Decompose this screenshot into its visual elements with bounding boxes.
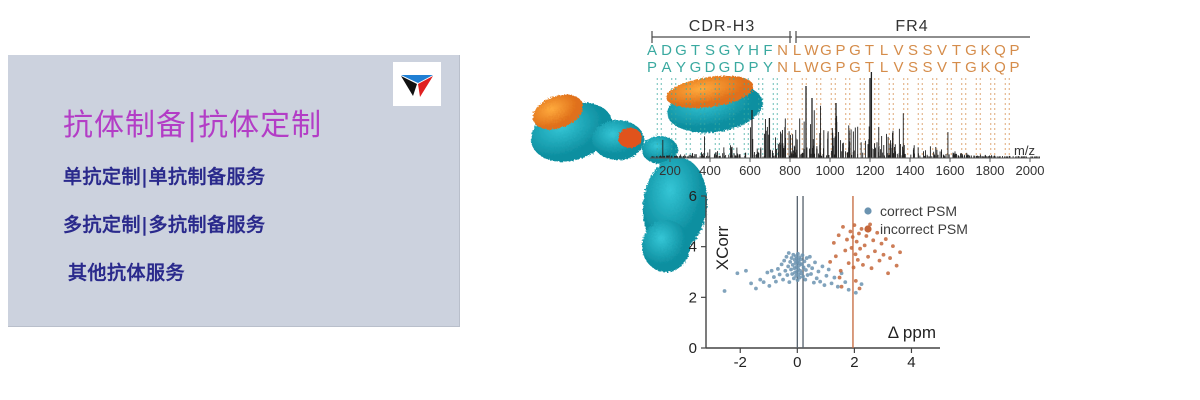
top-residue: G bbox=[675, 42, 687, 59]
region-label-fr4: FR4 bbox=[895, 18, 928, 35]
top-residue: V bbox=[937, 42, 947, 59]
bottom-residue: V bbox=[893, 59, 903, 76]
bottom-residue: G bbox=[849, 59, 861, 76]
top-residue: G bbox=[820, 42, 832, 59]
scatter-point bbox=[882, 253, 886, 257]
bottom-residue: K bbox=[980, 59, 990, 76]
scatter-point bbox=[754, 287, 758, 291]
scatter-point bbox=[823, 283, 827, 287]
scatter-point bbox=[857, 232, 861, 236]
scatter-point bbox=[852, 266, 856, 270]
scatter-ytick-label: 4 bbox=[689, 239, 697, 256]
bottom-residue: N bbox=[777, 59, 788, 76]
sequence-row-top: ADGTSGYHFNLWGPGTLVSSVTGKQP bbox=[647, 42, 1020, 59]
top-residue: P bbox=[1009, 42, 1019, 59]
scatter-points bbox=[723, 222, 902, 294]
scatter-point bbox=[840, 285, 844, 289]
scatter-point bbox=[783, 269, 787, 273]
top-residue: F bbox=[763, 42, 772, 59]
scatter-point bbox=[843, 280, 847, 284]
scatter-point bbox=[818, 280, 822, 284]
top-residue: W bbox=[804, 42, 819, 59]
spectrum-tick-label: 600 bbox=[739, 163, 761, 178]
bottom-residue: Y bbox=[763, 59, 773, 76]
scatter-point bbox=[847, 288, 851, 292]
scatter-point bbox=[878, 259, 882, 263]
scatter-threshold-lines bbox=[797, 196, 853, 348]
scatter-point bbox=[858, 287, 862, 291]
scientific-figure: CDR-H3 FR4 ADGTSGYHFNLWGPGTLVSSVTGKQP PA… bbox=[500, 0, 1200, 400]
scatter-point bbox=[803, 259, 807, 263]
scatter-point bbox=[875, 231, 879, 235]
scatter-point bbox=[884, 237, 888, 241]
scatter-ytick-label: 2 bbox=[689, 289, 697, 306]
scatter-point bbox=[891, 244, 895, 248]
top-residue: Q bbox=[994, 42, 1006, 59]
bottom-residue: T bbox=[952, 59, 961, 76]
scatter-point bbox=[810, 266, 814, 270]
scatter-point bbox=[817, 270, 821, 274]
scatter-point bbox=[799, 257, 803, 261]
scatter-point bbox=[806, 273, 810, 277]
scatter-point bbox=[815, 276, 819, 280]
scatter-point bbox=[812, 281, 816, 285]
top-residue: G bbox=[965, 42, 977, 59]
scatter-point bbox=[821, 265, 825, 269]
scatter-point bbox=[873, 249, 877, 253]
scatter-point bbox=[772, 275, 776, 279]
bottom-residue: W bbox=[804, 59, 819, 76]
scatter-point bbox=[848, 230, 852, 234]
scatter-point bbox=[851, 235, 855, 239]
scatter-xtick-label: 0 bbox=[793, 354, 801, 371]
top-residue: T bbox=[865, 42, 874, 59]
bottom-residue: G bbox=[719, 59, 731, 76]
region-label-cdrh3: CDR-H3 bbox=[689, 18, 755, 35]
top-residue: S bbox=[705, 42, 715, 59]
scatter-point bbox=[852, 223, 856, 227]
spectrum-tick-label: 1000 bbox=[816, 163, 845, 178]
scatter-point bbox=[801, 253, 805, 257]
page-title: 抗体制备|抗体定制 bbox=[63, 100, 322, 144]
scatter-point bbox=[782, 259, 786, 263]
legend-label-incorrect: incorrect PSM bbox=[880, 221, 968, 237]
scatter-point bbox=[781, 278, 785, 282]
scatter-point bbox=[871, 238, 875, 242]
bottom-residue: T bbox=[865, 59, 874, 76]
scatter-point bbox=[767, 284, 771, 288]
scatter-point bbox=[758, 278, 762, 282]
company-logo bbox=[393, 62, 441, 106]
scatter-point bbox=[898, 250, 902, 254]
scatter-point bbox=[886, 271, 890, 275]
spectrum-tick-label: 1800 bbox=[976, 163, 1005, 178]
bottom-residue: L bbox=[793, 59, 801, 76]
bottom-residue: D bbox=[734, 59, 745, 76]
scatter-point bbox=[828, 260, 832, 264]
scatter-xtick-label: 4 bbox=[907, 354, 915, 371]
scatter-point bbox=[744, 269, 748, 273]
scatter-point bbox=[843, 249, 847, 253]
top-residue: A bbox=[647, 42, 657, 59]
scatter-point bbox=[801, 275, 805, 279]
scatter-point bbox=[774, 280, 778, 284]
scatter-point bbox=[765, 271, 769, 275]
bottom-residue: P bbox=[1009, 59, 1019, 76]
scatter-point bbox=[854, 279, 858, 283]
scatter-point bbox=[830, 282, 834, 286]
scatter-point bbox=[861, 263, 865, 267]
scatter-point bbox=[854, 291, 858, 295]
bottom-residue: Q bbox=[994, 59, 1006, 76]
scatter-point bbox=[749, 282, 753, 286]
bottom-residue: D bbox=[705, 59, 716, 76]
scatter-xtick-label: -2 bbox=[734, 354, 747, 371]
scatter-point bbox=[799, 271, 803, 275]
legend-dot-correct bbox=[864, 207, 871, 214]
scatter-point bbox=[855, 240, 859, 244]
bottom-residue: S bbox=[908, 59, 918, 76]
top-residue: Y bbox=[734, 42, 744, 59]
scatter-point bbox=[825, 274, 829, 278]
scatter-point bbox=[785, 273, 789, 277]
scatter-point bbox=[804, 268, 808, 272]
top-residue: T bbox=[952, 42, 961, 59]
legend-label-correct: correct PSM bbox=[880, 203, 957, 219]
top-residue: H bbox=[748, 42, 759, 59]
bottom-residue: P bbox=[748, 59, 758, 76]
scatter-point bbox=[762, 280, 766, 284]
scatter-point bbox=[841, 225, 845, 229]
top-residue: D bbox=[661, 42, 672, 59]
spectrum-tick-labels: 200400600800100012001400160018002000 bbox=[659, 158, 1044, 178]
promo-link-other-services[interactable]: 其他抗体服务 bbox=[68, 258, 185, 285]
scatter-point bbox=[787, 280, 791, 284]
scatter-xlabel: Δ ppm bbox=[888, 323, 936, 342]
bottom-residue: S bbox=[922, 59, 932, 76]
scatter-point bbox=[856, 258, 860, 262]
xcorr-scatter-plot: 0246 -2024 XCorr Δ ppm correct PSM incor… bbox=[689, 188, 968, 371]
scatter-point bbox=[845, 238, 849, 242]
scatter-point bbox=[770, 269, 774, 273]
bottom-residue: Y bbox=[676, 59, 686, 76]
scatter-point bbox=[870, 266, 874, 270]
scatter-point bbox=[834, 254, 838, 258]
top-residue: L bbox=[880, 42, 888, 59]
bottom-residue: G bbox=[820, 59, 832, 76]
scatter-ylabel: XCorr bbox=[713, 225, 732, 270]
scatter-ytick-label: 6 bbox=[689, 188, 697, 205]
bottom-residue: L bbox=[880, 59, 888, 76]
legend-dot-incorrect bbox=[864, 225, 871, 232]
figure-svg: CDR-H3 FR4 ADGTSGYHFNLWGPGTLVSSVTGKQP PA… bbox=[500, 0, 1200, 400]
scatter-point bbox=[836, 285, 840, 289]
promo-link-monoclonal[interactable]: 单抗定制|单抗制备服务 bbox=[63, 162, 265, 189]
scatter-point bbox=[778, 273, 782, 277]
sequence-row-bottom: PAYGDGDPYNLWGPGTLVSSVTGKQP bbox=[647, 59, 1020, 76]
scatter-point bbox=[735, 271, 739, 275]
spectrum-tick-label: 400 bbox=[699, 163, 721, 178]
scatter-point bbox=[776, 267, 780, 271]
promo-link-polyclonal[interactable]: 多抗定制|多抗制备服务 bbox=[63, 210, 265, 237]
scatter-point bbox=[847, 261, 851, 265]
spectrum-tick-label: 2000 bbox=[1016, 163, 1045, 178]
scatter-legend: correct PSM incorrect PSM bbox=[864, 203, 968, 237]
promo-panel: 抗体制备|抗体定制 单抗定制|单抗制备服务 多抗定制|多抗制备服务 其他抗体服务 bbox=[8, 55, 460, 327]
bottom-residue: G bbox=[965, 59, 977, 76]
logo-mark bbox=[393, 62, 441, 106]
top-residue: L bbox=[793, 42, 801, 59]
scatter-point bbox=[807, 264, 811, 268]
scatter-point bbox=[850, 246, 854, 250]
spectrum-tick-label: 200 bbox=[659, 163, 681, 178]
scatter-point bbox=[832, 241, 836, 245]
scatter-point bbox=[789, 268, 793, 272]
spectrum-tick-label: 1600 bbox=[936, 163, 965, 178]
scatter-point bbox=[863, 244, 867, 248]
scatter-point bbox=[798, 276, 802, 280]
scatter-point bbox=[788, 260, 792, 264]
scatter-point bbox=[833, 276, 837, 280]
scatter-point bbox=[786, 265, 790, 269]
scatter-point bbox=[827, 268, 831, 272]
top-residue: G bbox=[719, 42, 731, 59]
scatter-point bbox=[860, 227, 864, 231]
scatter-point bbox=[854, 252, 858, 256]
scatter-point bbox=[838, 276, 842, 280]
scatter-point bbox=[796, 252, 800, 256]
scatter-point bbox=[860, 282, 864, 286]
scatter-point bbox=[785, 255, 789, 259]
scatter-point bbox=[837, 233, 841, 237]
top-residue: S bbox=[908, 42, 918, 59]
scatter-point bbox=[780, 263, 784, 267]
top-residue: G bbox=[849, 42, 861, 59]
scatter-point bbox=[787, 251, 791, 255]
spectrum-tick-label: 800 bbox=[779, 163, 801, 178]
scatter-point bbox=[803, 278, 807, 282]
top-residue: N bbox=[777, 42, 788, 59]
scatter-point bbox=[880, 242, 884, 246]
scatter-xtick-label: 2 bbox=[850, 354, 858, 371]
top-residue: S bbox=[922, 42, 932, 59]
scatter-point bbox=[895, 264, 899, 268]
scatter-xtick-labels: -2024 bbox=[734, 348, 916, 371]
top-residue: K bbox=[980, 42, 990, 59]
spectrum-xlabel: m/z bbox=[1014, 143, 1035, 158]
scatter-point bbox=[888, 256, 892, 260]
spectrum-tick-label: 1400 bbox=[896, 163, 925, 178]
scatter-point bbox=[813, 260, 817, 264]
spectrum-tick-label: 1200 bbox=[856, 163, 885, 178]
scatter-ytick-label: 0 bbox=[689, 340, 697, 357]
scatter-point bbox=[723, 289, 727, 293]
top-residue: P bbox=[835, 42, 845, 59]
scatter-point bbox=[864, 234, 868, 238]
bottom-residue: P bbox=[835, 59, 845, 76]
top-residue: T bbox=[691, 42, 700, 59]
page-root: 抗体制备|抗体定制 单抗定制|单抗制备服务 多抗定制|多抗制备服务 其他抗体服务 bbox=[0, 0, 1200, 400]
bottom-residue: P bbox=[647, 59, 657, 76]
scatter-point bbox=[839, 269, 843, 273]
top-residue: V bbox=[893, 42, 903, 59]
scatter-point bbox=[809, 272, 813, 276]
bottom-residue: G bbox=[690, 59, 702, 76]
scatter-point bbox=[866, 255, 870, 259]
scatter-point bbox=[858, 247, 862, 251]
scatter-point bbox=[808, 255, 812, 259]
bottom-residue: A bbox=[661, 59, 671, 76]
bottom-residue: V bbox=[937, 59, 947, 76]
